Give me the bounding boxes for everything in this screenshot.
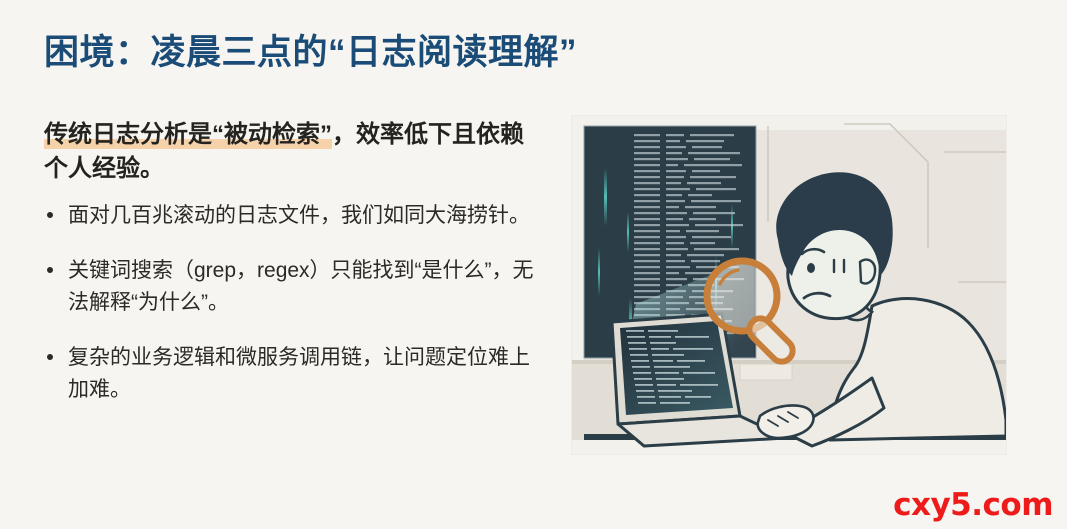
lede-highlight: 传统日志分析是“被动检索” <box>44 121 332 149</box>
bullet-list: 面对几百兆滚动的日志文件，我们如同大海捞针。 关键词搜索（grep，regex）… <box>44 200 544 406</box>
bullet-dot-icon <box>47 354 53 360</box>
lede-paragraph: 传统日志分析是“被动检索”，效率低下且依赖个人经验。 <box>44 118 544 186</box>
slide-canvas: 困境：凌晨三点的“日志阅读理解” 传统日志分析是“被动检索”，效率低下且依赖个人… <box>0 0 1067 529</box>
illustration-image <box>572 116 1006 454</box>
list-item: 关键词搜索（grep，regex）只能找到“是什么”，无法解释“为什么”。 <box>44 255 544 319</box>
list-item: 面对几百兆滚动的日志文件，我们如同大海捞针。 <box>44 200 544 232</box>
bullet-dot-icon <box>47 267 53 273</box>
content-column: 传统日志分析是“被动检索”，效率低下且依赖个人经验。 面对几百兆滚动的日志文件，… <box>44 118 544 406</box>
site-watermark: cxy5.com <box>893 487 1053 523</box>
list-item-text: 复杂的业务逻辑和微服务调用链，让问题定位难上加难。 <box>68 346 530 401</box>
bullet-dot-icon <box>47 212 53 218</box>
list-item: 复杂的业务逻辑和微服务调用链，让问题定位难上加难。 <box>44 342 544 406</box>
list-item-text: 关键词搜索（grep，regex）只能找到“是什么”，无法解释“为什么”。 <box>68 259 534 314</box>
page-title: 困境：凌晨三点的“日志阅读理解” <box>44 24 577 75</box>
list-item-text: 面对几百兆滚动的日志文件，我们如同大海捞针。 <box>68 204 530 227</box>
